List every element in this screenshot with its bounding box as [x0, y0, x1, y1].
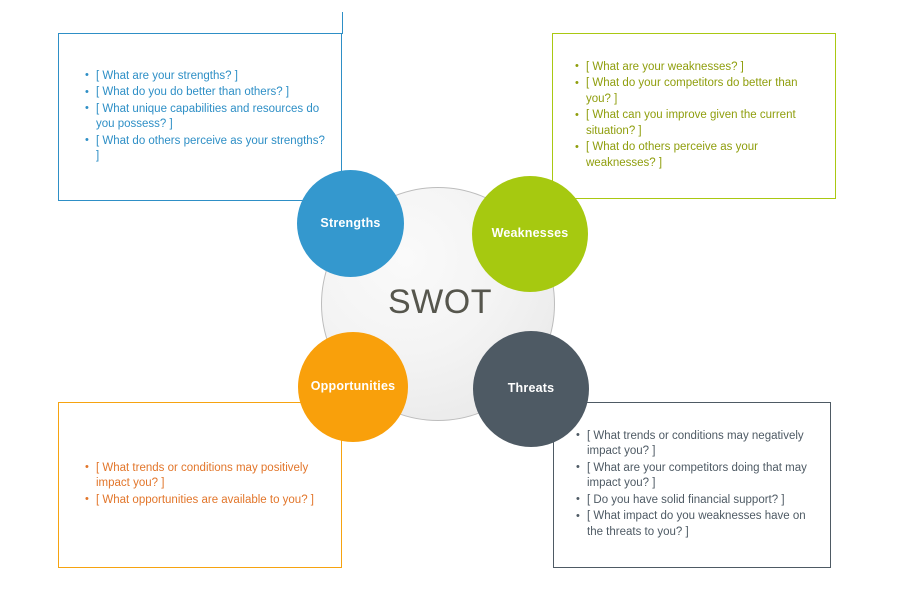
list-item: [ What are your weaknesses? ]	[575, 60, 821, 77]
list-item: [ What unique capabilities and resources…	[85, 102, 327, 134]
connector-strengths-vertical	[342, 12, 343, 34]
strengths-circle-label: Strengths	[316, 217, 384, 231]
list-item: [ What impact do you weaknesses have on …	[576, 509, 816, 541]
list-item: [ What do others perceive as your streng…	[85, 134, 327, 166]
swot-diagram-canvas: [ What are your strengths? ] [ What do y…	[0, 0, 900, 600]
swot-circle-cluster: SWOT Strengths Weaknesses Opportunities …	[318, 162, 608, 452]
list-item: [ What can you improve given the current…	[575, 108, 821, 140]
list-item: [ Do you have solid financial support? ]	[576, 493, 816, 510]
opportunities-circle-label: Opportunities	[307, 380, 400, 394]
list-item: [ What opportunities are available to yo…	[85, 493, 327, 510]
strengths-circle[interactable]: Strengths	[297, 170, 404, 277]
threats-circle-label: Threats	[504, 382, 559, 396]
list-item: [ What trends or conditions may positive…	[85, 461, 327, 493]
list-item: [ What do your competitors do better tha…	[575, 76, 821, 108]
opportunities-text-box[interactable]: [ What trends or conditions may positive…	[58, 402, 342, 568]
list-item: [ What do others perceive as your weakne…	[575, 140, 821, 172]
weaknesses-bullet-list: [ What are your weaknesses? ] [ What do …	[553, 60, 835, 173]
opportunities-circle[interactable]: Opportunities	[298, 332, 408, 442]
threats-circle[interactable]: Threats	[473, 331, 589, 447]
list-item: [ What are your competitors doing that m…	[576, 461, 816, 493]
weaknesses-circle-label: Weaknesses	[488, 227, 573, 241]
strengths-text-box[interactable]: [ What are your strengths? ] [ What do y…	[58, 33, 342, 201]
weaknesses-circle[interactable]: Weaknesses	[472, 176, 588, 292]
list-item: [ What are your strengths? ]	[85, 69, 327, 86]
opportunities-bullet-list: [ What trends or conditions may positive…	[59, 461, 341, 510]
list-item: [ What do you do better than others? ]	[85, 85, 327, 102]
strengths-bullet-list: [ What are your strengths? ] [ What do y…	[59, 69, 341, 166]
list-item: [ What trends or conditions may negative…	[576, 429, 816, 461]
swot-center-label: SWOT	[388, 283, 492, 322]
